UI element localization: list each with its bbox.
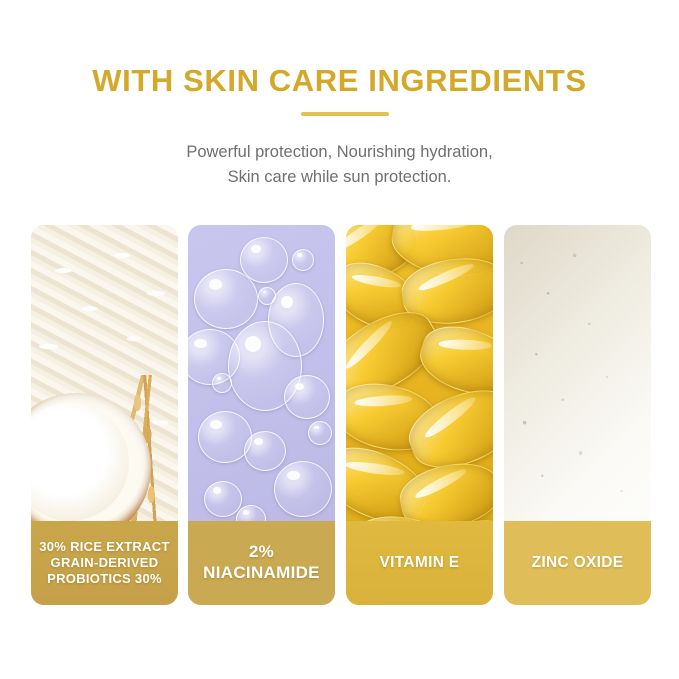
card-label-text: 2% NIACINAMIDE	[203, 542, 320, 583]
card-label-line-1: 30% RICE EXTRACT	[39, 539, 170, 555]
title-divider	[301, 112, 389, 116]
card-label-line-2: NIACINAMIDE	[203, 563, 320, 584]
ingredient-card-niacinamide[interactable]: 2% NIACINAMIDE	[188, 225, 335, 605]
page-title: WITH SKIN CARE INGREDIENTS	[0, 63, 679, 99]
card-label-text: ZINC OXIDE	[532, 554, 624, 573]
ingredient-card-rice-extract[interactable]: 30% RICE EXTRACT GRAIN-DERIVED PROBIOTIC…	[31, 225, 178, 605]
card-label-band: ZINC OXIDE	[504, 521, 651, 605]
subtitle: Powerful protection, Nourishing hydratio…	[0, 140, 679, 190]
card-label-text: 30% RICE EXTRACT GRAIN-DERIVED PROBIOTIC…	[39, 539, 170, 587]
ingredient-card-zinc-oxide[interactable]: ZINC OXIDE	[504, 225, 651, 605]
subtitle-line-1: Powerful protection, Nourishing hydratio…	[186, 143, 492, 161]
card-label-line-1: ZINC OXIDE	[532, 554, 624, 573]
subtitle-line-2: Skin care while sun protection.	[0, 165, 679, 190]
ingredient-card-vitamin-e[interactable]: VITAMIN E	[346, 225, 493, 605]
card-label-line-3: PROBIOTICS 30%	[39, 571, 170, 587]
card-label-band: VITAMIN E	[346, 521, 493, 605]
ingredients-infographic: WITH SKIN CARE INGREDIENTS Powerful prot…	[0, 0, 679, 679]
card-label-line-1: VITAMIN E	[380, 554, 460, 573]
card-label-line-2: GRAIN-DERIVED	[39, 555, 170, 571]
card-label-band: 30% RICE EXTRACT GRAIN-DERIVED PROBIOTIC…	[31, 521, 178, 605]
card-label-band: 2% NIACINAMIDE	[188, 521, 335, 605]
card-label-text: VITAMIN E	[380, 554, 460, 573]
ingredient-card-row: 30% RICE EXTRACT GRAIN-DERIVED PROBIOTIC…	[0, 225, 679, 606]
card-label-line-1: 2%	[203, 542, 320, 563]
